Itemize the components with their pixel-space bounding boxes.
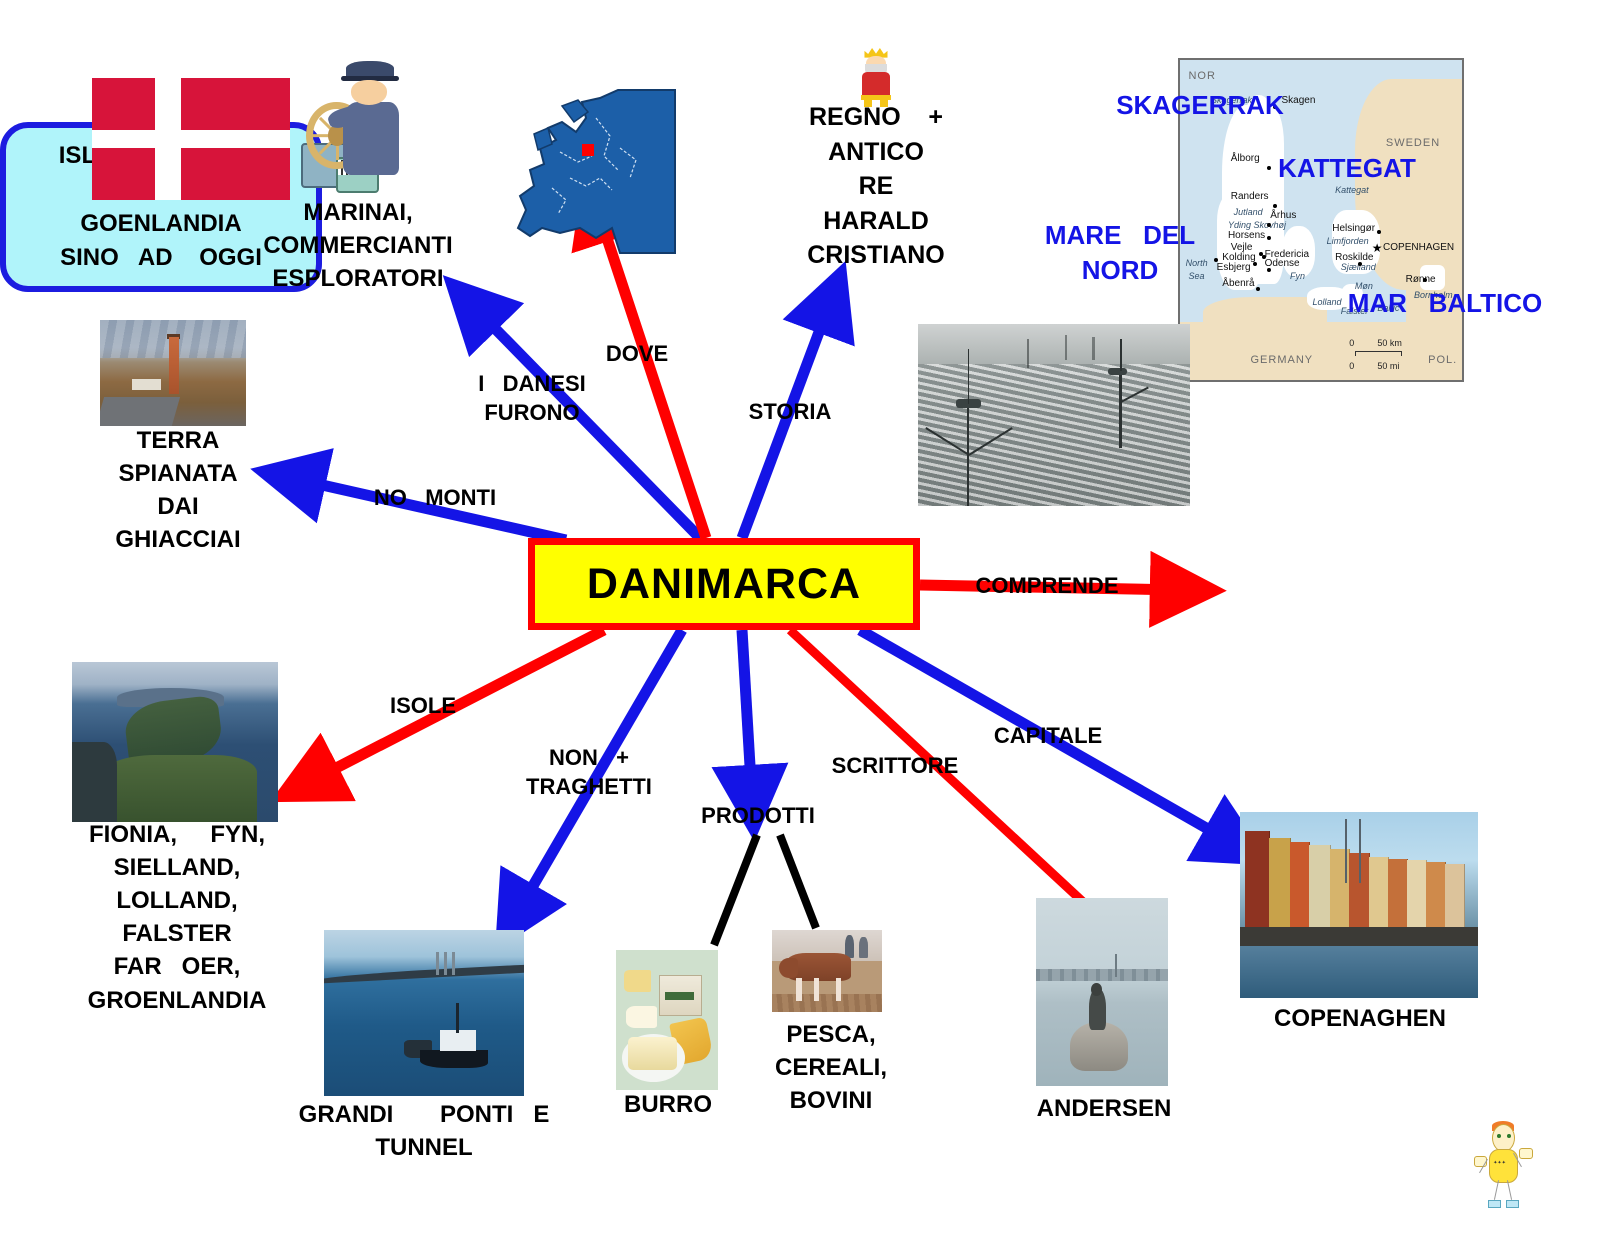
terra-spianata-caption: TERRA SPIANATA DAI GHIACCIAI — [78, 424, 278, 556]
link-label-capitale: CAPITALE — [960, 722, 1136, 751]
copenhagen-image — [1240, 812, 1478, 998]
link-label-prodotti: PRODOTTI — [668, 802, 848, 831]
danish-flag-image — [92, 78, 290, 200]
watermark-figure-icon: ✦✦✦ — [1468, 1112, 1538, 1212]
islands-caption: FIONIA, FYN, SIELLAND, LOLLAND, FALSTER … — [58, 818, 296, 1017]
europe-map-image — [500, 78, 690, 268]
link-label-isole: ISOLE — [340, 692, 506, 721]
king-icon — [852, 48, 900, 108]
sailor-caption: MARINAI, COMMERCIANTI ESPLORATORI — [248, 196, 468, 295]
sea-label-kattegat: KATTEGAT — [1252, 151, 1442, 186]
link-prodotti — [742, 630, 752, 800]
islanda-line-4: SINO AD OGGI — [60, 241, 262, 275]
link-label-marinai: I DANESI FURONO — [432, 370, 632, 427]
central-node-danimarca[interactable]: DANIMARCA — [528, 538, 920, 630]
butter-caption: BURRO — [604, 1088, 732, 1121]
concept-map-canvas: MARINAI, COMMERCIANTI ESPLORATORI REGNO … — [0, 0, 1600, 1245]
cattle-caption: PESCA, CEREALI, BOVINI — [756, 1018, 906, 1117]
lighthouse-image — [100, 320, 246, 426]
link-label-scrittore: SCRITTORE — [800, 752, 990, 781]
andersen-caption: ANDERSEN — [1022, 1092, 1186, 1125]
link-label-non-traghetti: NON + TRAGHETTI — [496, 744, 682, 801]
islands-image — [72, 662, 278, 822]
bridge-image — [324, 930, 524, 1096]
link-label-storia: STORIA — [710, 398, 870, 427]
copenhagen-caption: COPENAGHEN — [1228, 1002, 1492, 1035]
link-label-dove: DOVE — [562, 340, 712, 369]
central-node-label: DANIMARCA — [587, 560, 861, 609]
sea-label-mare-del-nord: MARE DEL NORD — [1030, 218, 1210, 288]
link-label-no-monti: NO MONTI — [340, 484, 530, 513]
link-prodotti-pesca — [780, 835, 816, 928]
mermaid-statue-image — [1036, 898, 1168, 1086]
butter-image — [616, 950, 718, 1090]
cattle-image — [772, 930, 882, 1012]
regno-caption: REGNO + ANTICO RE HARALD CRISTIANO — [768, 100, 984, 273]
bridge-caption: GRANDI PONTI E TUNNEL — [296, 1098, 552, 1164]
sea-label-skagerrak: SKAGERRAK — [1100, 88, 1300, 123]
link-prodotti-burro — [714, 835, 757, 945]
wind-farm-image — [918, 324, 1190, 506]
link-label-comprende: COMPRENDE — [958, 572, 1136, 601]
sea-label-mar-baltico: MAR BALTICO — [1330, 286, 1560, 321]
islanda-line-3: GOENLANDIA — [80, 207, 241, 241]
sailor-helm-icon — [288, 58, 420, 204]
